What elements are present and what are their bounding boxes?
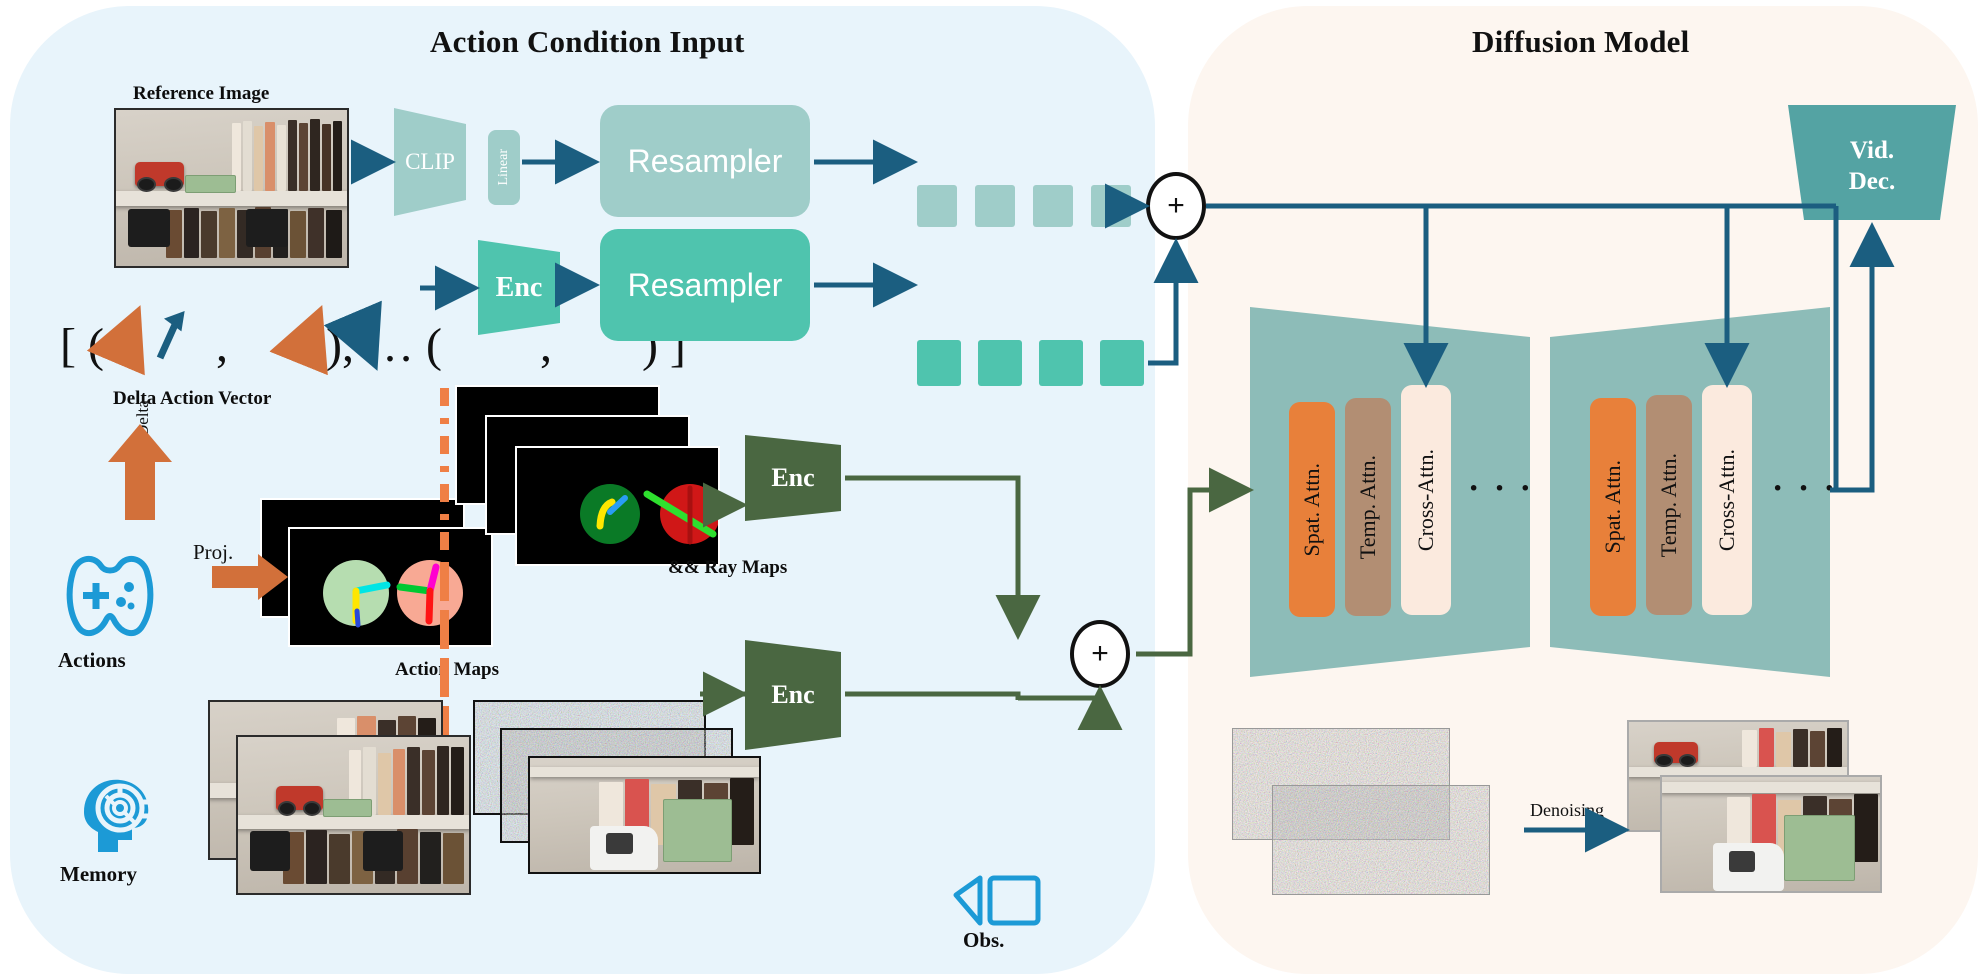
video-decoder-line-2: Dec. xyxy=(1849,166,1896,197)
token-act-3 xyxy=(1039,340,1083,386)
panel-title-action-condition-input: Action Condition Input xyxy=(430,24,745,60)
unet-up-temp-attn-label: Temp. Attn. xyxy=(1656,453,1682,557)
reference-image-label: Reference Image xyxy=(133,83,269,105)
unet-up-ellipsis: · · · xyxy=(1772,470,1838,508)
enc-action-label: Enc xyxy=(478,240,560,335)
token-img-2 xyxy=(975,185,1015,227)
vector-comma-1: , xyxy=(216,319,228,372)
camera-icon xyxy=(948,873,1042,929)
linear-label: Linear xyxy=(496,149,512,186)
vector-ellipsis: … xyxy=(366,319,414,372)
unet-down-temp-attn-label: Temp. Attn. xyxy=(1355,455,1381,559)
proj-label: Proj. xyxy=(193,540,233,565)
memory-label: Memory xyxy=(60,862,137,887)
bracket-open: [ ( xyxy=(60,319,104,372)
token-img-1 xyxy=(917,185,957,227)
obs-label: Obs. xyxy=(963,928,1004,953)
video-decoder-line-1: Vid. xyxy=(1850,135,1894,166)
plus-symbol-top: + xyxy=(1167,189,1185,223)
video-decoder-text: Vid. Dec. xyxy=(1788,112,1956,220)
vector-paren-close-1: ) xyxy=(326,319,342,372)
reference-image-photo xyxy=(114,108,349,268)
unet-down-cross-attn-label: Cross-Attn. xyxy=(1413,449,1439,551)
memory-brain-icon xyxy=(72,770,158,856)
clip-label: CLIP xyxy=(394,108,466,216)
unet-up-cross-attn-label: Cross-Attn. xyxy=(1714,449,1740,551)
actions-label: Actions xyxy=(58,648,126,673)
delta-arrow-label: Delta xyxy=(133,423,173,437)
enc-obs-label: Enc xyxy=(745,640,841,750)
unet-up-cross-attn: Cross-Attn. xyxy=(1702,385,1752,615)
unet-down-ellipsis: · · · xyxy=(1468,470,1534,508)
token-act-4 xyxy=(1100,340,1144,386)
resampler-image-block: Resampler xyxy=(600,105,810,217)
ray-maps-label: && Ray Maps xyxy=(668,557,787,579)
denoise-output-front xyxy=(1660,775,1882,893)
unet-down-cross-attn: Cross-Attn. xyxy=(1401,385,1451,615)
token-act-1 xyxy=(917,340,961,386)
vector-paren-open-2: ( xyxy=(426,319,442,372)
vector-comma-2: , xyxy=(342,319,354,372)
delta-action-vector-expression: [ ( , ), … ( , ) ] xyxy=(60,318,686,373)
token-img-4 xyxy=(1091,185,1131,227)
linear-block: Linear xyxy=(488,130,520,205)
token-img-3 xyxy=(1033,185,1073,227)
gamepad-icon xyxy=(55,552,165,642)
plus-node-bottom: + xyxy=(1070,620,1130,688)
plus-symbol-bottom: + xyxy=(1091,637,1109,671)
plus-node-top: + xyxy=(1146,172,1206,240)
unet-up-spat-attn: Spat. Attn. xyxy=(1590,398,1636,616)
unet-up-temp-attn: Temp. Attn. xyxy=(1646,395,1692,615)
unet-down-spat-attn: Spat. Attn. xyxy=(1289,402,1335,617)
resampler-action-block: Resampler xyxy=(600,229,810,341)
unet-down-temp-attn: Temp. Attn. xyxy=(1345,398,1391,616)
diagram-canvas: Action Condition Input Diffusion Model R… xyxy=(0,0,1988,980)
unet-down-spat-attn-label: Spat. Attn. xyxy=(1299,463,1325,557)
denoising-label: Denoising xyxy=(1530,800,1604,821)
token-act-2 xyxy=(978,340,1022,386)
memory-photo-front xyxy=(236,735,471,895)
resampler-action-label: Resampler xyxy=(628,267,783,304)
resampler-image-label: Resampler xyxy=(628,143,783,180)
panel-title-diffusion-model: Diffusion Model xyxy=(1472,24,1689,60)
unet-up-spat-attn-label: Spat. Attn. xyxy=(1600,460,1626,554)
action-map-frame-front xyxy=(288,527,493,647)
obs-photo-front xyxy=(528,756,761,874)
denoise-input-front xyxy=(1272,785,1490,895)
enc-ray-label: Enc xyxy=(745,435,841,521)
ray-map-frame-1 xyxy=(515,446,720,566)
